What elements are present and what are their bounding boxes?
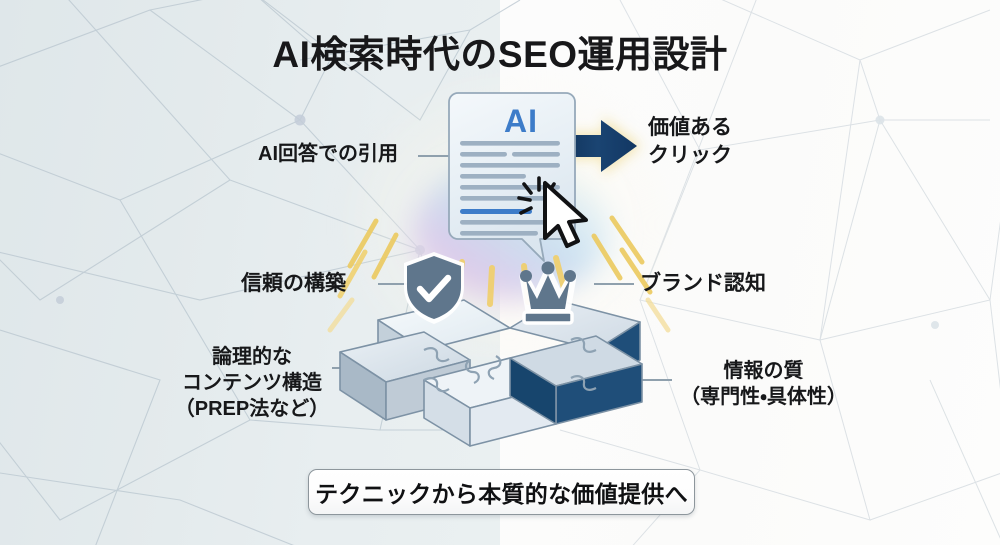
label-logical-line2: コンテンツ構造	[172, 370, 332, 396]
label-information-quality: 情報の質 （専門性・具体性）	[676, 358, 851, 410]
isometric-puzzle-blocks	[340, 300, 642, 446]
label-logical-line1: 論理的な	[172, 344, 332, 370]
summary-banner: テクニックから本質的な価値提供へ	[308, 469, 695, 515]
illustration-layer	[0, 0, 1000, 545]
label-brand-awareness: ブランド認知	[640, 271, 766, 297]
label-value-click: 価値ある クリック	[648, 114, 732, 169]
label-value-click-line2: クリック	[648, 142, 732, 170]
card-heading: AI	[458, 103, 584, 140]
label-trust-building: 信頼の構築	[241, 271, 346, 297]
label-quality-line1: 情報の質	[676, 358, 851, 384]
summary-banner-text: テクニックから本質的な価値提供へ	[315, 475, 688, 509]
label-logical-line3: （PREP法など）	[172, 396, 332, 422]
label-logical-content: 論理的な コンテンツ構造 （PREP法など）	[172, 344, 332, 422]
label-quality-line2: （専門性・具体性）	[676, 384, 851, 410]
infographic-canvas: AI検索時代のSEO運用設計 AI回答での引用 価値ある クリック 信頼の構築 …	[0, 0, 1000, 545]
label-value-click-line1: 価値ある	[648, 114, 732, 142]
crown-icon	[520, 262, 576, 324]
label-ai-citation: AI回答での引用	[258, 142, 398, 167]
page-title: AI検索時代のSEO運用設計	[0, 24, 1000, 78]
